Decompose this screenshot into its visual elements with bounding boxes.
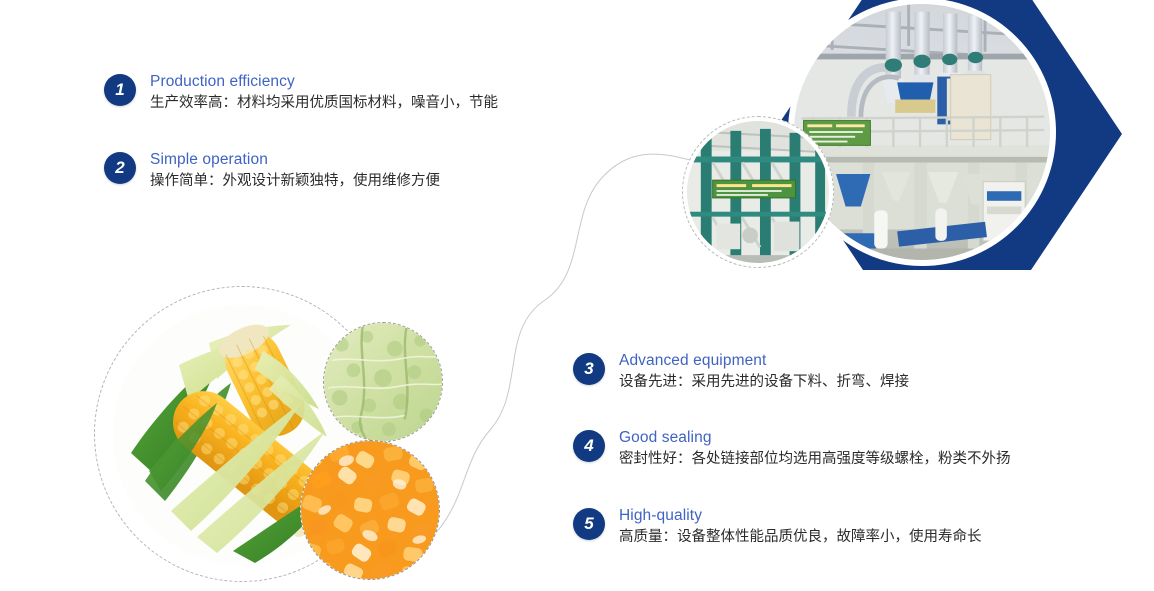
feature-title-1: Production efficiency [150,72,498,91]
feature-title-2: Simple operation [150,150,440,169]
feature-title-3: Advanced equipment [619,351,909,370]
corn-paste-photo [323,322,443,442]
feature-text-1: Production efficiency 生产效率高：材料均采用优质国标材料，… [150,72,498,114]
mill-photo-group [660,0,1154,284]
feature-item-5[interactable]: 5 High-quality 高质量：设备整体性能品质优良，故障率小，使用寿命长 [573,506,982,548]
feature-text-5: High-quality 高质量：设备整体性能品质优良，故障率小，使用寿命长 [619,506,982,548]
feature-title-4: Good sealing [619,428,1011,447]
feature-item-2[interactable]: 2 Simple operation 操作简单：外观设计新颖独特，使用维修方便 [104,150,440,192]
feature-highlights-panel: 1 Production efficiency 生产效率高：材料均采用优质国标材… [0,0,1154,591]
feature-text-2: Simple operation 操作简单：外观设计新颖独特，使用维修方便 [150,150,440,192]
feature-desc-3: 设备先进：采用先进的设备下料、折弯、焊接 [619,372,909,393]
feature-badge-2: 2 [104,152,136,184]
feature-badge-5: 5 [573,508,605,540]
feature-badge-3: 3 [573,353,605,385]
feature-desc-5: 高质量：设备整体性能品质优良，故障率小，使用寿命长 [619,527,982,548]
feature-item-1[interactable]: 1 Production efficiency 生产效率高：材料均采用优质国标材… [104,72,498,114]
feature-text-3: Advanced equipment 设备先进：采用先进的设备下料、折弯、焊接 [619,351,909,393]
feature-desc-2: 操作简单：外观设计新颖独特，使用维修方便 [150,171,440,192]
corn-photo-group [90,282,490,591]
corn-grits-photo [300,440,440,580]
mill-small-photo [682,116,834,268]
feature-text-4: Good sealing 密封性好：各处链接部位均选用高强度等级螺栓，粉类不外扬 [619,428,1011,470]
feature-item-3[interactable]: 3 Advanced equipment 设备先进：采用先进的设备下料、折弯、焊… [573,351,909,393]
feature-desc-4: 密封性好：各处链接部位均选用高强度等级螺栓，粉类不外扬 [619,449,1011,470]
feature-desc-1: 生产效率高：材料均采用优质国标材料，噪音小，节能 [150,93,498,114]
feature-item-4[interactable]: 4 Good sealing 密封性好：各处链接部位均选用高强度等级螺栓，粉类不… [573,428,1011,470]
feature-title-5: High-quality [619,506,982,525]
feature-badge-4: 4 [573,430,605,462]
feature-badge-1: 1 [104,74,136,106]
